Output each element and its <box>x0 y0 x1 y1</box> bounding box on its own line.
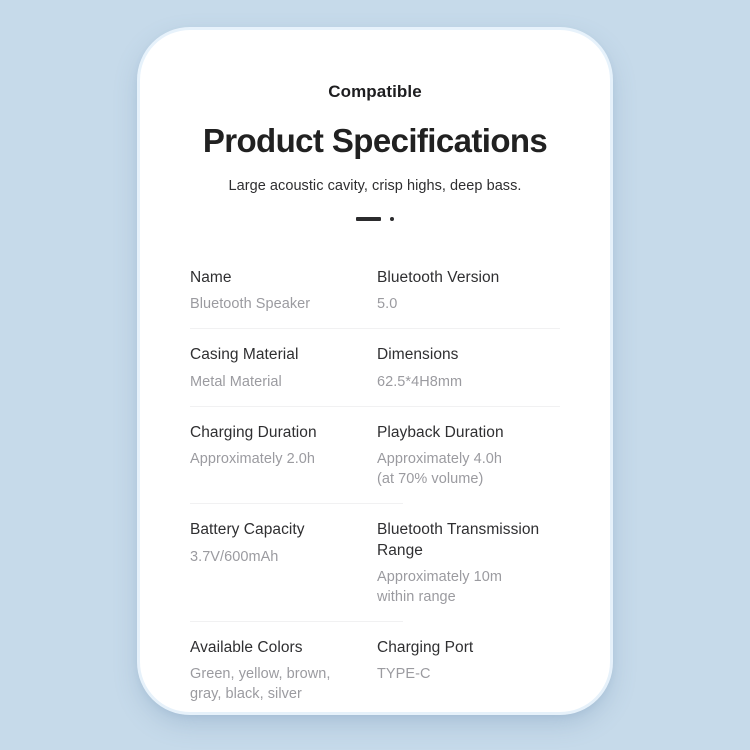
spec-value: Approximately 2.0h <box>190 449 363 469</box>
specifications-table: Name Bluetooth Speaker Bluetooth Version… <box>176 268 574 712</box>
spec-value: Approximately 10mwithin range <box>377 567 560 607</box>
spec-value: Bluetooth Speaker <box>190 294 363 314</box>
divider-dash <box>356 217 381 221</box>
table-row: Battery Capacity 3.7V/600mAh Bluetooth T… <box>190 520 560 622</box>
spec-label: Battery Capacity <box>190 520 363 540</box>
spec-cell-right: Bluetooth Version 5.0 <box>375 268 560 314</box>
spec-value: TYPE-C <box>377 664 560 684</box>
spec-value: 5.0 <box>377 294 560 314</box>
spec-cell-left: Casing Material Metal Material <box>190 345 375 391</box>
divider-dot <box>390 217 394 221</box>
spec-cell-left: Name Bluetooth Speaker <box>190 268 375 314</box>
spec-label: Casing Material <box>190 345 363 365</box>
spec-label: Available Colors <box>190 638 363 658</box>
eyebrow-text: Compatible <box>176 82 574 102</box>
table-row: Charging Duration Approximately 2.0h Pla… <box>190 423 560 504</box>
product-spec-card: Compatible Product Specifications Large … <box>140 30 610 712</box>
spec-label: Dimensions <box>377 345 560 365</box>
spec-label: Bluetooth Version <box>377 268 560 288</box>
spec-cell-left: Charging Duration Approximately 2.0h <box>190 423 375 469</box>
spec-value: Approximately 4.0h(at 70% volume) <box>377 449 560 489</box>
screen: Compatible Product Specifications Large … <box>0 0 750 750</box>
spec-value: Green, yellow, brown,gray, black, silver <box>190 664 363 704</box>
table-row: Casing Material Metal Material Dimension… <box>190 345 560 406</box>
spec-value: 3.7V/600mAh <box>190 547 363 567</box>
spec-value: 62.5*4H8mm <box>377 372 560 392</box>
table-row: Name Bluetooth Speaker Bluetooth Version… <box>190 268 560 329</box>
spec-label: Playback Duration <box>377 423 560 443</box>
card-content: Compatible Product Specifications Large … <box>140 30 610 712</box>
spec-label: Charging Duration <box>190 423 363 443</box>
card-header: Compatible Product Specifications Large … <box>176 82 574 224</box>
spec-value: Metal Material <box>190 372 363 392</box>
dash-dot-divider-icon <box>176 214 574 224</box>
spec-cell-right: Charging Port TYPE-C <box>375 638 560 684</box>
spec-cell-left: Battery Capacity 3.7V/600mAh <box>190 520 375 566</box>
spec-cell-right: Bluetooth Transmission Range Approximate… <box>375 520 560 607</box>
page-title: Product Specifications <box>176 122 574 160</box>
table-row: Available Colors Green, yellow, brown,gr… <box>190 638 560 712</box>
spec-cell-left: Available Colors Green, yellow, brown,gr… <box>190 638 375 704</box>
spec-cell-right: Playback Duration Approximately 4.0h(at … <box>375 423 560 489</box>
spec-cell-right: Dimensions 62.5*4H8mm <box>375 345 560 391</box>
spec-label: Name <box>190 268 363 288</box>
spec-label: Bluetooth Transmission Range <box>377 520 560 561</box>
subtitle-text: Large acoustic cavity, crisp highs, deep… <box>176 178 574 195</box>
spec-label: Charging Port <box>377 638 560 658</box>
